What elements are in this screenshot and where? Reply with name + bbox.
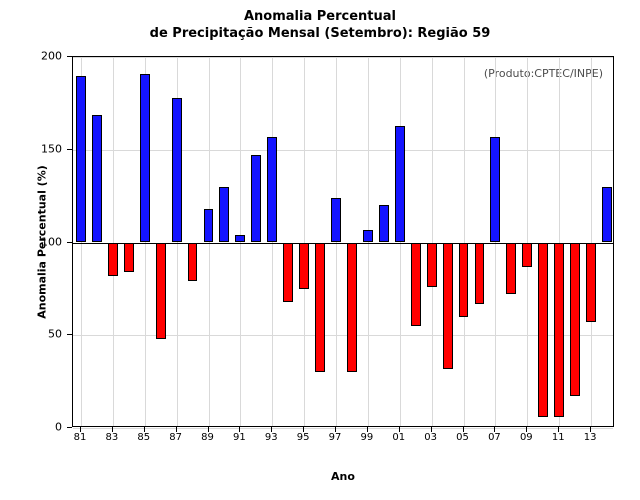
bar: [76, 76, 86, 243]
bar: [108, 243, 118, 276]
bar: [92, 115, 102, 243]
x-tick-label: 09: [520, 432, 533, 443]
bar: [570, 243, 580, 397]
bar-series: [73, 57, 613, 426]
x-tick-mark: [431, 427, 432, 432]
bar: [522, 243, 532, 267]
bar: [475, 243, 485, 304]
bar: [315, 243, 325, 373]
chart-title: Anomalia Percentual de Precipitação Mens…: [0, 8, 640, 42]
x-tick-mark: [367, 427, 368, 432]
bar: [140, 74, 150, 243]
x-tick-mark: [271, 427, 272, 432]
x-tick-mark: [590, 427, 591, 432]
x-tick-mark: [335, 427, 336, 432]
y-tick-label: 50: [48, 328, 62, 341]
bar: [538, 243, 548, 417]
x-tick-label: 03: [424, 432, 437, 443]
bar: [283, 243, 293, 302]
x-tick-mark: [463, 427, 464, 432]
bar: [347, 243, 357, 373]
bar: [554, 243, 564, 417]
x-tick-label: 91: [233, 432, 246, 443]
x-tick-label: 95: [297, 432, 310, 443]
bar: [172, 98, 182, 243]
y-tick-label: 200: [41, 50, 62, 63]
y-tick-mark: [67, 242, 72, 243]
x-tick-label: 13: [584, 432, 597, 443]
x-tick-mark: [144, 427, 145, 432]
bar: [395, 126, 405, 243]
x-tick-mark: [80, 427, 81, 432]
y-tick-label: 100: [41, 235, 62, 248]
x-tick-mark: [494, 427, 495, 432]
bar: [251, 155, 261, 242]
bar: [459, 243, 469, 317]
x-tick-mark: [558, 427, 559, 432]
bar: [427, 243, 437, 288]
bar: [331, 198, 341, 243]
bar: [506, 243, 516, 295]
bar: [363, 230, 373, 243]
y-tick-label: 0: [55, 421, 62, 434]
x-tick-label: 93: [265, 432, 278, 443]
x-axis-title: Ano: [72, 470, 614, 483]
bar: [156, 243, 166, 339]
x-tick-label: 85: [137, 432, 150, 443]
bar: [267, 137, 277, 243]
bar: [235, 235, 245, 242]
x-tick-label: 97: [329, 432, 342, 443]
y-tick-mark: [67, 334, 72, 335]
y-tick-mark: [67, 427, 72, 428]
x-tick-label: 81: [74, 432, 87, 443]
x-tick-mark: [112, 427, 113, 432]
x-tick-mark: [208, 427, 209, 432]
bar: [490, 137, 500, 243]
x-axis-tick-labels: 8183858789919395979901030507091113: [72, 428, 614, 448]
chart-page: Anomalia Percentual de Precipitação Mens…: [0, 0, 640, 500]
x-tick-mark: [303, 427, 304, 432]
x-tick-label: 89: [201, 432, 214, 443]
bar: [299, 243, 309, 289]
plot-area: (Produto:CPTEC/INPE): [72, 56, 614, 427]
x-tick-label: 11: [552, 432, 565, 443]
x-tick-mark: [239, 427, 240, 432]
bar: [602, 187, 612, 243]
bar: [411, 243, 421, 326]
x-tick-label: 83: [105, 432, 118, 443]
bar: [379, 205, 389, 242]
x-tick-label: 87: [169, 432, 182, 443]
x-tick-mark: [526, 427, 527, 432]
x-tick-label: 05: [456, 432, 469, 443]
chart-title-line1: Anomalia Percentual: [0, 8, 640, 25]
y-tick-mark: [67, 56, 72, 57]
bar: [204, 209, 214, 242]
x-tick-mark: [399, 427, 400, 432]
x-tick-label: 01: [392, 432, 405, 443]
y-axis-tick-labels: 050100150200: [0, 56, 68, 427]
bar: [586, 243, 596, 323]
bar: [219, 187, 229, 243]
bar: [443, 243, 453, 369]
chart-title-line2: de Precipitação Mensal (Setembro): Regiã…: [0, 25, 640, 42]
y-tick-mark: [67, 149, 72, 150]
x-tick-label: 99: [361, 432, 374, 443]
bar: [188, 243, 198, 282]
x-tick-label: 07: [488, 432, 501, 443]
bar: [124, 243, 134, 273]
x-tick-mark: [176, 427, 177, 432]
y-tick-label: 150: [41, 142, 62, 155]
